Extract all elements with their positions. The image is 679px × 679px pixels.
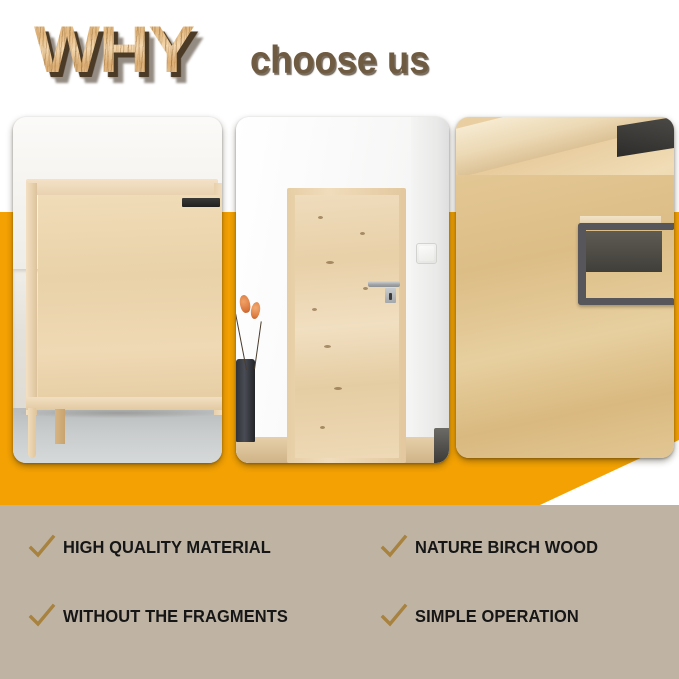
wood-knot — [334, 387, 342, 390]
floor-object-dark — [434, 428, 449, 463]
feature-item: WITHOUT THE FRAGMENTS — [28, 602, 302, 630]
photo-panel-cabinet[interactable] — [13, 117, 222, 463]
features-section — [0, 505, 679, 679]
feature-label: SIMPLE OPERATION — [415, 606, 579, 627]
photo-door-scene — [236, 117, 449, 463]
check-icon — [28, 602, 56, 630]
door-lever-handle — [368, 281, 400, 286]
wood-knot — [324, 345, 331, 348]
cabinet-leg-left — [28, 408, 37, 458]
feature-item: HIGH QUALITY MATERIAL — [28, 533, 284, 561]
page-title-rest: choose us — [250, 39, 429, 83]
wall-right-side — [411, 117, 449, 463]
check-icon — [28, 533, 56, 561]
photo-panel-door[interactable] — [236, 117, 449, 463]
feature-label: HIGH QUALITY MATERIAL — [63, 537, 271, 558]
feature-item: SIMPLE OPERATION — [380, 602, 589, 630]
photo-panel-handle-closeup[interactable] — [456, 117, 674, 458]
flower-vase — [236, 359, 255, 442]
light-switch-rocker — [419, 246, 434, 261]
drawer-bar-handle — [578, 223, 674, 305]
wood-knot — [363, 287, 368, 290]
page-header: WHY choose us — [0, 0, 679, 110]
door-keyhole — [389, 293, 392, 299]
photo-drawer-scene — [456, 117, 674, 458]
wood-knot — [318, 216, 323, 219]
door-leaf — [295, 195, 399, 458]
feature-label: WITHOUT THE FRAGMENTS — [63, 606, 288, 627]
wood-knot — [360, 232, 365, 235]
wood-knot — [326, 261, 334, 264]
cabinet-top-panel — [26, 179, 218, 195]
feature-label: NATURE BIRCH WOOD — [415, 537, 598, 558]
wood-knot — [312, 308, 317, 311]
light-switch — [416, 243, 437, 264]
check-icon — [380, 533, 408, 561]
page-title-accent: WHY — [34, 14, 194, 84]
photo-cabinet-scene — [13, 117, 222, 463]
cabinet-door-panel — [38, 195, 222, 399]
cabinet-bottom-rail — [26, 397, 222, 409]
cabinet-frame-left — [26, 183, 37, 415]
infographic-page: WHY choose us — [0, 0, 679, 679]
wood-knot — [320, 426, 325, 429]
check-icon — [380, 602, 408, 630]
cabinet-leg-middle — [55, 409, 65, 444]
feature-item: NATURE BIRCH WOOD — [380, 533, 610, 561]
cabinet-bar-handle — [182, 198, 220, 207]
